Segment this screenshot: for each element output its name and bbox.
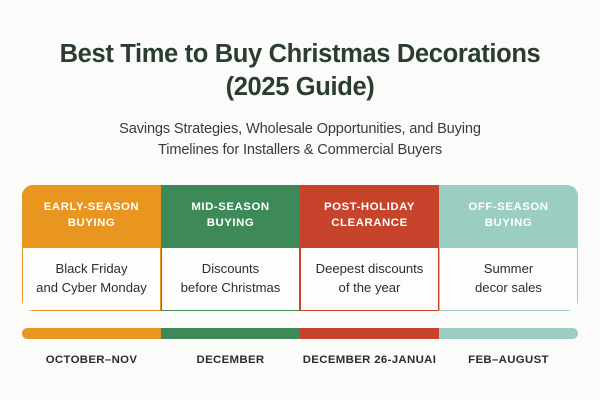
table-body-text: Discounts before Christmas — [181, 260, 281, 297]
table-header-label: EARLY-SEASON BUYING — [44, 200, 139, 231]
timeline-segment — [161, 328, 300, 339]
table-body-text-line-2: decor sales — [475, 280, 542, 295]
table-body-text-line-1: Discounts — [202, 261, 260, 276]
table-header-label-line-2: BUYING — [207, 217, 255, 229]
page-title: Best Time to Buy Christmas Decorations (… — [20, 38, 580, 103]
table-body-cell: Black Friday and Cyber Monday — [22, 248, 161, 311]
page-title-line-1: Best Time to Buy Christmas Decorations — [60, 40, 541, 68]
table-body-text: Black Friday and Cyber Monday — [36, 260, 147, 297]
table-body-text-line-1: Deepest discounts — [316, 261, 424, 276]
table-header-label-line-2: BUYING — [485, 217, 533, 229]
table-header-label-line-1: EARLY-SEASON — [44, 201, 139, 213]
page-subtitle-line-2: Timelines for Installers & Commercial Bu… — [158, 142, 442, 158]
table-header-label: OFF-SEASON BUYING — [468, 200, 548, 231]
strategy-table: EARLY-SEASON BUYING MID-SEASON BUYING PO… — [22, 185, 578, 311]
table-header-cell: OFF-SEASON BUYING — [439, 185, 578, 248]
table-body-text: Deepest discounts of the year — [316, 260, 424, 297]
timeline-labels: OCTOBER–NOV DECEMBER DECEMBER 26-JANUAI … — [22, 354, 578, 366]
table-body-cell: Discounts before Christmas — [161, 248, 300, 311]
table-body-cell: Deepest discounts of the year — [300, 248, 439, 311]
table-header-row: EARLY-SEASON BUYING MID-SEASON BUYING PO… — [22, 185, 578, 248]
table-body-text-line-2: and Cyber Monday — [36, 280, 147, 295]
timeline-segment — [22, 328, 161, 339]
table-header-label-line-1: POST-HOLIDAY — [324, 201, 415, 213]
timeline-label: FEB–AUGUST — [439, 354, 578, 366]
table-header-cell: EARLY-SEASON BUYING — [22, 185, 161, 248]
table-body-text-line-1: Summer — [484, 261, 533, 276]
table-header-label-line-2: BUYING — [68, 217, 116, 229]
table-body-text-line-2: before Christmas — [181, 280, 281, 295]
table-body-text-line-2: of the year — [339, 280, 401, 295]
table-header-label-line-1: OFF-SEASON — [468, 201, 548, 213]
timeline-label: DECEMBER — [161, 354, 300, 366]
timeline-label: OCTOBER–NOV — [22, 354, 161, 366]
timeline-segment — [300, 328, 439, 339]
timeline-bar — [22, 328, 578, 339]
table-body-row: Black Friday and Cyber Monday Discounts … — [22, 248, 578, 311]
table-body-cell: Summer decor sales — [439, 248, 578, 311]
table-header-label: POST-HOLIDAY CLEARANCE — [324, 200, 415, 231]
table-header-label: MID-SEASON BUYING — [191, 200, 269, 231]
timeline-label: DECEMBER 26-JANUAI — [300, 354, 439, 366]
table-header-cell: POST-HOLIDAY CLEARANCE — [300, 185, 439, 248]
page-subtitle: Savings Strategies, Wholesale Opportunit… — [60, 119, 540, 160]
infographic-root: Best Time to Buy Christmas Decorations (… — [0, 0, 600, 400]
table-header-label-line-1: MID-SEASON — [191, 201, 269, 213]
timeline: OCTOBER–NOV DECEMBER DECEMBER 26-JANUAI … — [22, 328, 578, 366]
timeline-segment — [439, 328, 578, 339]
page-subtitle-line-1: Savings Strategies, Wholesale Opportunit… — [119, 121, 481, 137]
table-body-text-line-1: Black Friday — [55, 261, 127, 276]
table-header-label-line-2: CLEARANCE — [331, 217, 407, 229]
page-title-line-2: (2025 Guide) — [226, 73, 375, 101]
table-header-cell: MID-SEASON BUYING — [161, 185, 300, 248]
table-body-text: Summer decor sales — [475, 260, 542, 297]
